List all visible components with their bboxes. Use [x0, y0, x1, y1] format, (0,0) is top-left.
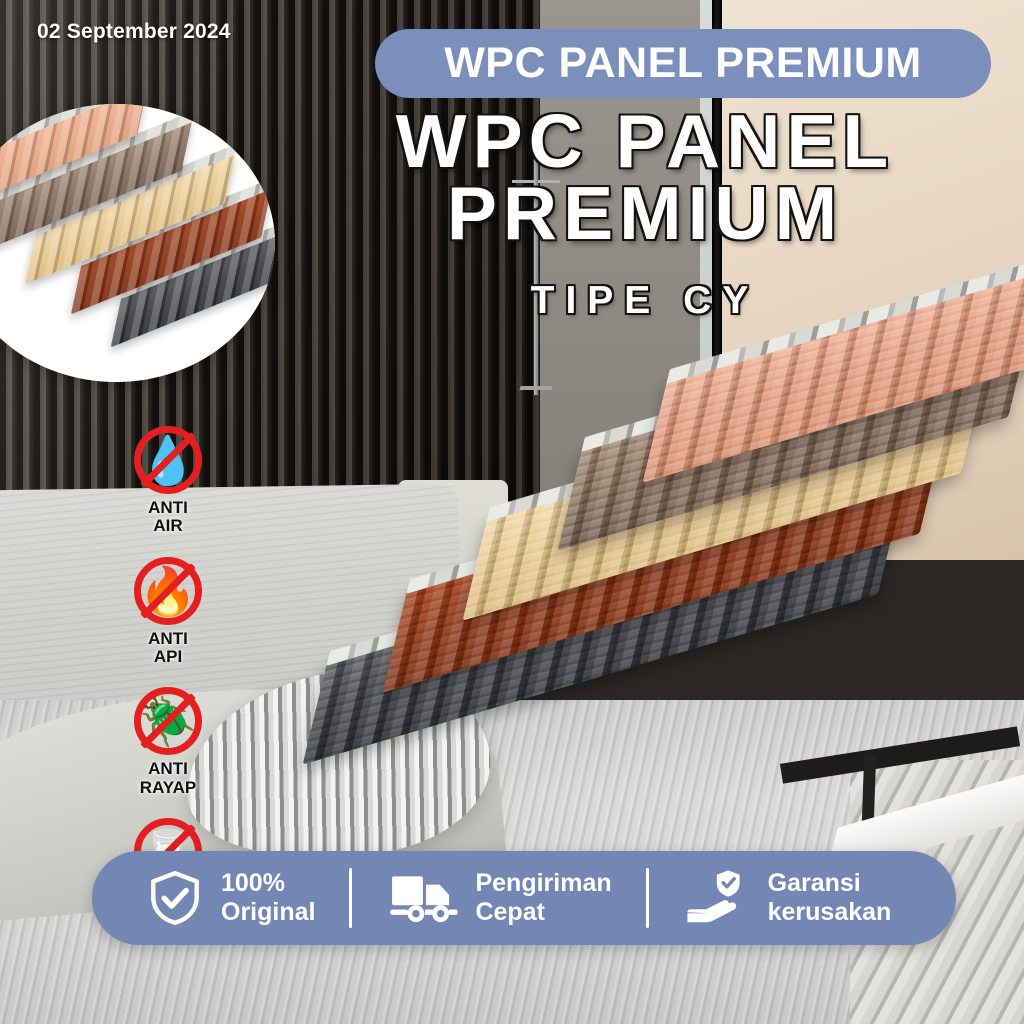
headline-subtitle: TIPE CY	[300, 279, 990, 323]
trust-item-original[interactable]: 100% Original	[144, 867, 315, 929]
footer-divider-2	[646, 868, 649, 928]
trust-line-2: Original	[221, 898, 315, 926]
trust-line-2: kerusakan	[768, 898, 892, 926]
feature-icon-list: 💧 ANTI AIR 🔥 ANTI API 🪲	[108, 424, 228, 907]
publish-date: 02 September 2024	[37, 20, 231, 44]
feature-label-line-2: RAYAP	[140, 778, 196, 797]
title-badge-label: WPC PANEL PREMIUM	[444, 39, 922, 88]
feature-label-anti-air: ANTI AIR	[108, 499, 228, 536]
feature-label-line-1: ANTI	[148, 498, 188, 517]
trust-label-shipping: Pengiriman Cepat	[475, 869, 611, 927]
page-title: WPC PANEL PREMIUM	[300, 105, 990, 249]
feature-label-line-2: AIR	[153, 516, 182, 535]
title-badge-pill: WPC PANEL PREMIUM	[375, 29, 991, 98]
water-drop-icon: 💧	[132, 424, 204, 496]
feature-label-line-1: ANTI	[148, 759, 188, 778]
footer-divider-1	[349, 868, 352, 928]
product-sample-circle-inset	[0, 104, 275, 382]
hand-shield-badge-icon	[685, 868, 753, 928]
feature-label-anti-api: ANTI API	[108, 630, 228, 667]
trust-item-warranty[interactable]: Garansi kerusakan	[685, 868, 892, 928]
poster-canvas: 02 September 2024 WPC PANEL PREMIUM WPC …	[0, 0, 1024, 1024]
fire-flame-icon: 🔥	[132, 555, 204, 627]
termite-bug-icon: 🪲	[132, 685, 204, 757]
feature-anti-api: 🔥 ANTI API	[108, 555, 228, 667]
trust-line-2: Cepat	[475, 898, 544, 926]
headline-line-2: PREMIUM	[300, 177, 990, 249]
feature-anti-air: 💧 ANTI AIR	[108, 424, 228, 536]
trust-item-shipping[interactable]: Pengiriman Cepat	[390, 869, 611, 927]
wpc-panel-stack	[355, 355, 1024, 855]
delivery-truck-icon	[390, 870, 460, 926]
feature-label-line-2: API	[154, 647, 182, 666]
panel-samples-photo	[0, 104, 275, 382]
trust-line-1: 100%	[221, 869, 285, 897]
shield-check-icon	[144, 867, 206, 929]
trust-label-original: 100% Original	[221, 869, 315, 927]
feature-label-anti-rayap: ANTI RAYAP	[108, 760, 228, 797]
trust-badge-bar: 100% Original Pengirim	[92, 851, 956, 945]
feature-label-line-1: ANTI	[148, 629, 188, 648]
trust-line-1: Pengiriman	[475, 869, 611, 897]
feature-anti-rayap: 🪲 ANTI RAYAP	[108, 685, 228, 797]
trust-line-1: Garansi	[768, 869, 861, 897]
trust-label-warranty: Garansi kerusakan	[768, 869, 892, 927]
